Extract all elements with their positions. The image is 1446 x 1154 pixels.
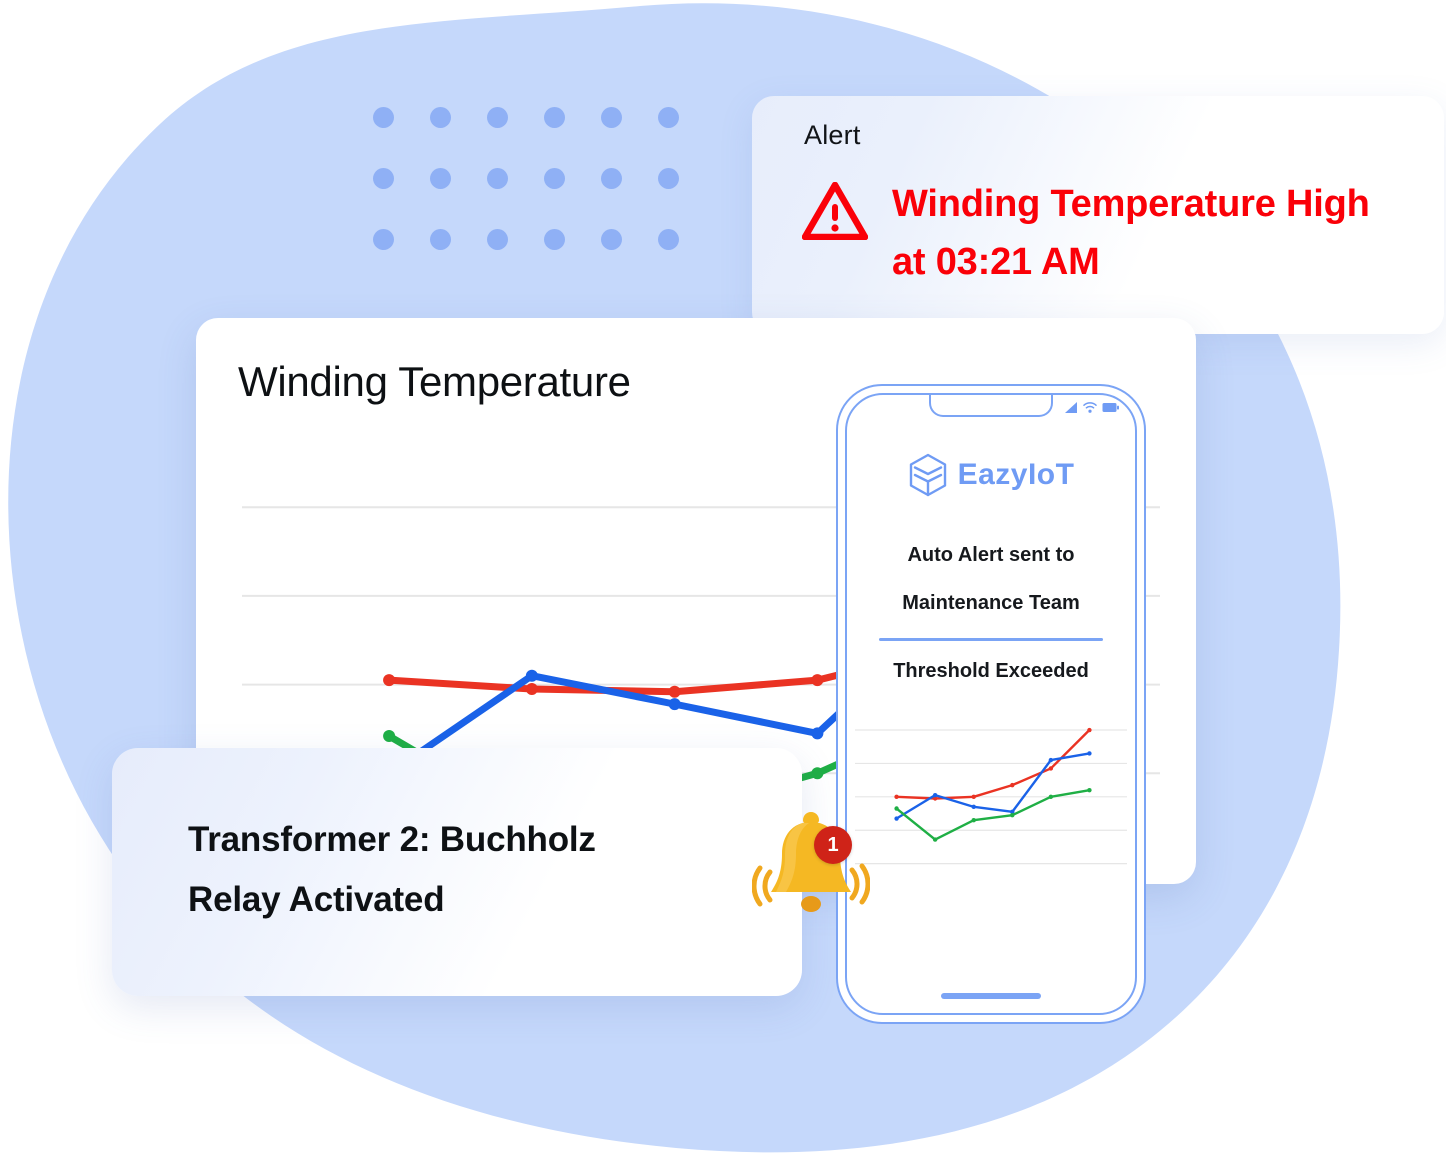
data-point <box>383 730 395 742</box>
dot <box>544 168 565 189</box>
battery-icon <box>1102 402 1119 413</box>
data-point <box>972 795 976 799</box>
data-point <box>1087 751 1091 755</box>
dot <box>544 107 565 128</box>
phone-status-bar <box>1065 402 1119 413</box>
data-point <box>1049 766 1053 770</box>
phone-screen: EazyIoT Auto Alert sent to Maintenance T… <box>845 393 1137 1015</box>
dot <box>373 168 394 189</box>
illustration-stage: Alert Winding Temperature High at 03:21 … <box>0 0 1446 1154</box>
dot <box>601 107 622 128</box>
wifi-icon <box>1083 402 1097 413</box>
bell-badge-count: 1 <box>814 826 852 864</box>
alert-message-line1: Winding Temperature High <box>892 176 1370 234</box>
ringing-bell-icon[interactable] <box>752 806 870 918</box>
relay-message: Transformer 2: Buchholz Relay Activated <box>188 810 596 930</box>
data-point <box>933 837 937 841</box>
data-point <box>811 727 823 739</box>
data-point <box>1010 783 1014 787</box>
phone-alert-line1: Auto Alert sent to <box>869 531 1113 579</box>
data-point <box>669 686 681 698</box>
dot <box>601 168 622 189</box>
phone-notch <box>929 393 1053 417</box>
data-point <box>933 793 937 797</box>
dot <box>487 229 508 250</box>
phone-threshold-label: Threshold Exceeded <box>861 660 1121 683</box>
dot <box>373 229 394 250</box>
data-point <box>1049 758 1053 762</box>
data-point <box>383 674 395 686</box>
alert-label: Alert <box>804 120 861 151</box>
data-point <box>669 698 681 710</box>
dot <box>658 107 679 128</box>
data-point <box>894 816 898 820</box>
relay-notification-card: Transformer 2: Buchholz Relay Activated <box>112 748 802 996</box>
data-point <box>894 795 898 799</box>
dot <box>487 168 508 189</box>
alert-message-line2: at 03:21 AM <box>892 234 1370 292</box>
data-point <box>526 683 538 695</box>
dot <box>601 229 622 250</box>
phone-divider <box>879 638 1103 641</box>
phone-alert-message: Auto Alert sent to Maintenance Team <box>869 531 1113 627</box>
data-point <box>811 767 823 779</box>
brand-name: EazyIoT <box>958 458 1075 492</box>
warning-triangle-icon <box>802 182 868 240</box>
cube-box-logo-icon <box>908 453 948 497</box>
data-point <box>1049 795 1053 799</box>
phone-alert-line2: Maintenance Team <box>869 579 1113 627</box>
data-point <box>526 670 538 682</box>
alert-notification-card: Alert Winding Temperature High at 03:21 … <box>752 96 1444 334</box>
dot <box>544 229 565 250</box>
alert-message-row: Winding Temperature High at 03:21 AM <box>802 176 1422 292</box>
notification-bell[interactable]: 1 <box>752 806 870 918</box>
data-point <box>1010 813 1014 817</box>
data-point <box>972 805 976 809</box>
chart-line-phase-r <box>897 730 1090 798</box>
phone-mockup: EazyIoT Auto Alert sent to Maintenance T… <box>836 384 1146 1024</box>
data-point <box>972 818 976 822</box>
dot <box>658 168 679 189</box>
dot <box>487 107 508 128</box>
relay-message-line1: Transformer 2: Buchholz <box>188 810 596 870</box>
dot <box>430 107 451 128</box>
data-point <box>1087 728 1091 732</box>
dot <box>430 229 451 250</box>
home-indicator <box>941 993 1041 999</box>
phone-mini-line-chart <box>855 700 1127 935</box>
signal-icon <box>1065 402 1078 413</box>
dot <box>430 168 451 189</box>
dot <box>373 107 394 128</box>
alert-message: Winding Temperature High at 03:21 AM <box>892 176 1370 292</box>
dot <box>658 229 679 250</box>
app-brand: EazyIoT <box>847 453 1135 497</box>
page-title: Winding Temperature <box>238 358 631 406</box>
dot-pattern <box>373 107 693 262</box>
data-point <box>894 806 898 810</box>
relay-message-line2: Relay Activated <box>188 870 596 930</box>
data-point <box>811 674 823 686</box>
data-point <box>1087 788 1091 792</box>
